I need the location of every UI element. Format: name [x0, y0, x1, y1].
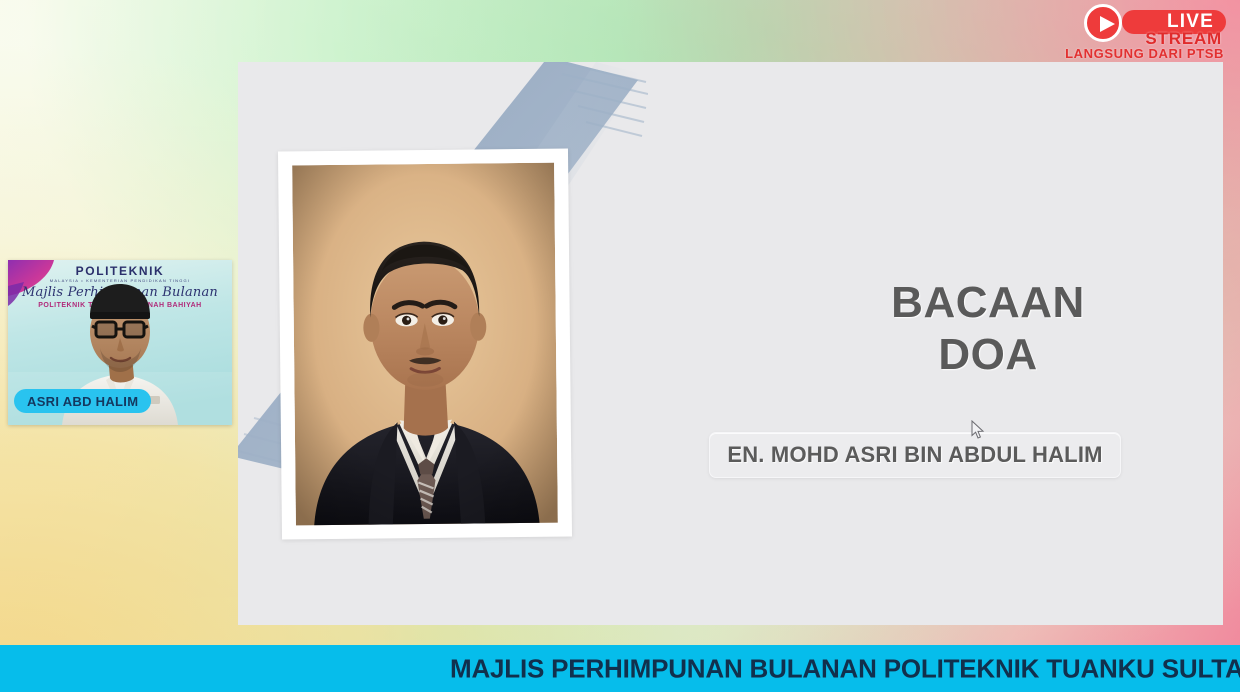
screen-root: LIVE STREAM LANGSUNG DARI PTSB [0, 0, 1240, 692]
bottom-banner: MAJLIS PERHIMPUNAN BULANAN POLITEKNIK TU… [0, 645, 1240, 692]
play-circle-icon [1084, 4, 1122, 42]
bottom-banner-text: MAJLIS PERHIMPUNAN BULANAN POLITEKNIK TU… [450, 653, 1240, 684]
webcam-participant-tile[interactable]: POLITEKNIK MALAYSIA • KEMENTERIAN PENDID… [8, 260, 232, 425]
webcam-participant-name: ASRI ABD HALIM [27, 394, 138, 409]
portrait-photo [292, 163, 558, 526]
portrait-frame [278, 148, 572, 539]
speaker-name-text: EN. MOHD ASRI BIN ABDUL HALIM [727, 442, 1102, 468]
webcam-nameplate: ASRI ABD HALIM [14, 389, 151, 413]
slide-headline: BACAAN DOA [778, 277, 1198, 381]
mouse-pointer-icon [971, 420, 985, 440]
live-stream-badge: LIVE STREAM LANGSUNG DARI PTSB [1066, 4, 1226, 60]
presentation-slide: BACAAN DOA EN. MOHD ASRI BIN ABDUL HALIM [238, 62, 1223, 625]
play-triangle-icon [1100, 16, 1115, 32]
headline-line-2: DOA [778, 329, 1198, 381]
headline-line-1: BACAAN [891, 278, 1085, 327]
speaker-name-box: EN. MOHD ASRI BIN ABDUL HALIM [709, 432, 1121, 478]
portrait-image [292, 163, 558, 526]
live-stream-row: LIVE STREAM [1066, 4, 1226, 42]
live-caption: LANGSUNG DARI PTSB [1065, 46, 1224, 61]
